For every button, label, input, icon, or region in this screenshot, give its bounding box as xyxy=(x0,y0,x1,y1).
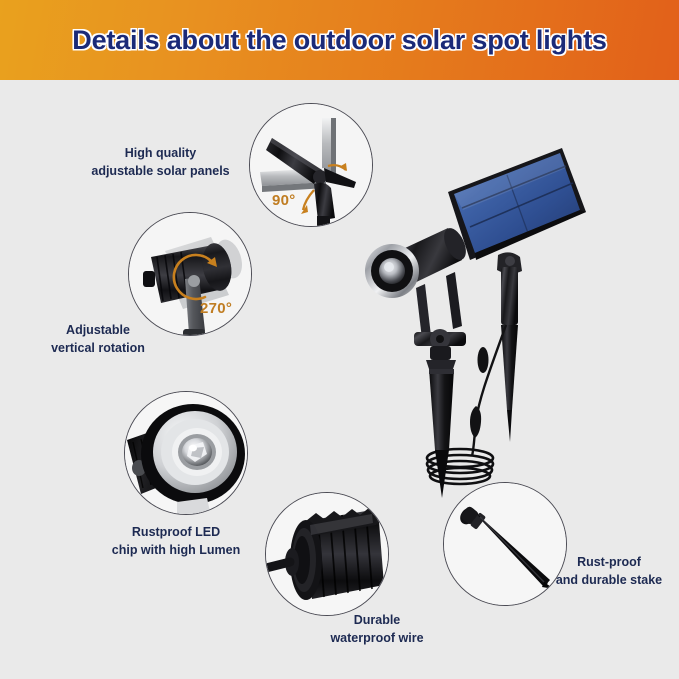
infographic-page: Details about the outdoor solar spot lig… xyxy=(0,0,679,679)
spot-light-head xyxy=(365,225,470,369)
header-banner: Details about the outdoor solar spot lig… xyxy=(0,0,679,80)
callout-circle-led-chip xyxy=(124,391,248,515)
callout-circle-solar-panel-angle xyxy=(249,103,373,227)
product-illustration xyxy=(330,120,610,500)
page-title: Details about the outdoor solar spot lig… xyxy=(72,25,606,56)
degree-label-270: 270° xyxy=(200,300,232,317)
callout-circle-waterproof-wire xyxy=(265,492,389,616)
callout-circle-vertical-rotation xyxy=(128,212,252,336)
caption-solar-panel-angle: High quality adjustable solar panels xyxy=(58,145,263,181)
caption-led-chip: Rustproof LED chip with high Lumen xyxy=(76,524,276,560)
caption-durable-stake: Rust-proof and durable stake xyxy=(538,554,679,590)
degree-label-90: 90° xyxy=(272,192,296,209)
caption-waterproof-wire: Durable waterproof wire xyxy=(292,612,462,648)
solar-panel xyxy=(448,148,586,442)
caption-vertical-rotation: Adjustable vertical rotation xyxy=(18,322,178,358)
